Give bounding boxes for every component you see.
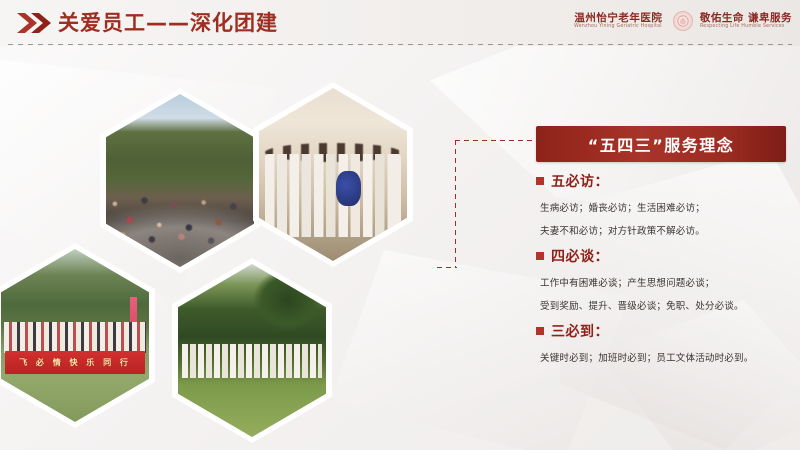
section-heading: 三必到：: [536, 321, 786, 341]
slide-header: 关爱员工——深化团建 温州怡宁老年医院 Wenzhou Yining Geria…: [0, 0, 800, 46]
section-sibitan: 四必谈： 工作中有困难必谈；产生思想问题必谈； 受到奖励、提升、晋级必谈；免职、…: [536, 246, 786, 312]
section-title: 四必谈：: [551, 246, 609, 266]
logo-slogan: 敬佑生命 谦卑服务 Respecting Life Humble Service…: [700, 13, 792, 29]
hex-photo-lawn-palms: [172, 258, 332, 443]
connector-segment-left: [455, 140, 456, 268]
panel-banner: “五四三”服务理念: [536, 126, 786, 162]
square-bullet-icon: [536, 327, 544, 335]
page-title: 关爱员工——深化团建: [58, 8, 278, 38]
slide-canvas: 关爱员工——深化团建 温州怡宁老年医院 Wenzhou Yining Geria…: [0, 0, 800, 450]
logo-hospital-name-en: Wenzhou Yining Geriatric Hospital: [574, 24, 662, 29]
section-title: 五必访：: [551, 171, 609, 191]
photo-crowd-detail: [106, 184, 254, 250]
square-bullet-icon: [536, 252, 544, 260]
section-line: 夫妻不和必访；对方针政策不解必访。: [540, 223, 786, 237]
hex-photo-red-banner: 飞 必 情 快 乐 同 行: [0, 243, 155, 428]
double-chevron-right-icon: [16, 12, 54, 34]
section-line: 关键时必到；加班时必到；员工文体活动时必到。: [540, 350, 786, 364]
photo-uniforms-detail: [265, 154, 401, 237]
photo-people-row: [4, 322, 146, 353]
hospital-logo: 温州怡宁老年医院 Wenzhou Yining Geriatric Hospit…: [574, 11, 792, 31]
connector-segment-top: [455, 140, 548, 141]
hospital-seal-icon: [673, 11, 693, 31]
header-divider: [8, 44, 792, 45]
photo-image: 飞 必 情 快 乐 同 行: [1, 249, 149, 422]
section-heading: 四必谈：: [536, 246, 786, 266]
panel-banner-title: “五四三”服务理念: [588, 132, 735, 156]
logo-slogan-en: Respecting Life Humble Services: [700, 24, 788, 29]
photo-image: [178, 264, 326, 437]
photo-bouquet-detail: [336, 171, 361, 206]
photo-image: [259, 88, 407, 261]
photo-banner-text: 飞 必 情 快 乐 同 行: [5, 351, 144, 373]
section-line: 工作中有困难必谈；产生思想问题必谈；: [540, 275, 786, 289]
section-line: 受到奖励、提升、晋级必谈；免职、处分必谈。: [540, 298, 786, 312]
hex-photo-outdoor-crowd: [100, 88, 260, 273]
photo-palm-detail: [249, 267, 326, 350]
section-line: 生病必访；婚丧必访；生活困难必访；: [540, 200, 786, 214]
photo-banner-caption: 飞 必 情 快 乐 同 行: [19, 357, 131, 368]
hex-photo-inner: [106, 94, 254, 267]
photo-people-row: [182, 344, 321, 379]
photo-image: [106, 94, 254, 267]
hex-photo-inner: [178, 264, 326, 437]
logo-hospital-name: 温州怡宁老年医院 Wenzhou Yining Geriatric Hospit…: [574, 13, 665, 29]
section-sanbidao: 三必到： 关键时必到；加班时必到；员工文体活动时必到。: [536, 321, 786, 364]
connector-segment-bottom: [437, 267, 457, 268]
section-heading: 五必访：: [536, 171, 786, 191]
hex-photo-inner: 飞 必 情 快 乐 同 行: [1, 249, 149, 422]
square-bullet-icon: [536, 177, 544, 185]
hex-photo-inner: [259, 88, 407, 261]
service-concept-panel: “五四三”服务理念 五必访： 生病必访；婚丧必访；生活困难必访； 夫妻不和必访；…: [536, 126, 786, 364]
section-title: 三必到：: [551, 321, 609, 341]
section-wubifang: 五必访： 生病必访；婚丧必访；生活困难必访； 夫妻不和必访；对方针政策不解必访。: [536, 171, 786, 237]
hex-photo-indoor-staff: [253, 82, 413, 267]
